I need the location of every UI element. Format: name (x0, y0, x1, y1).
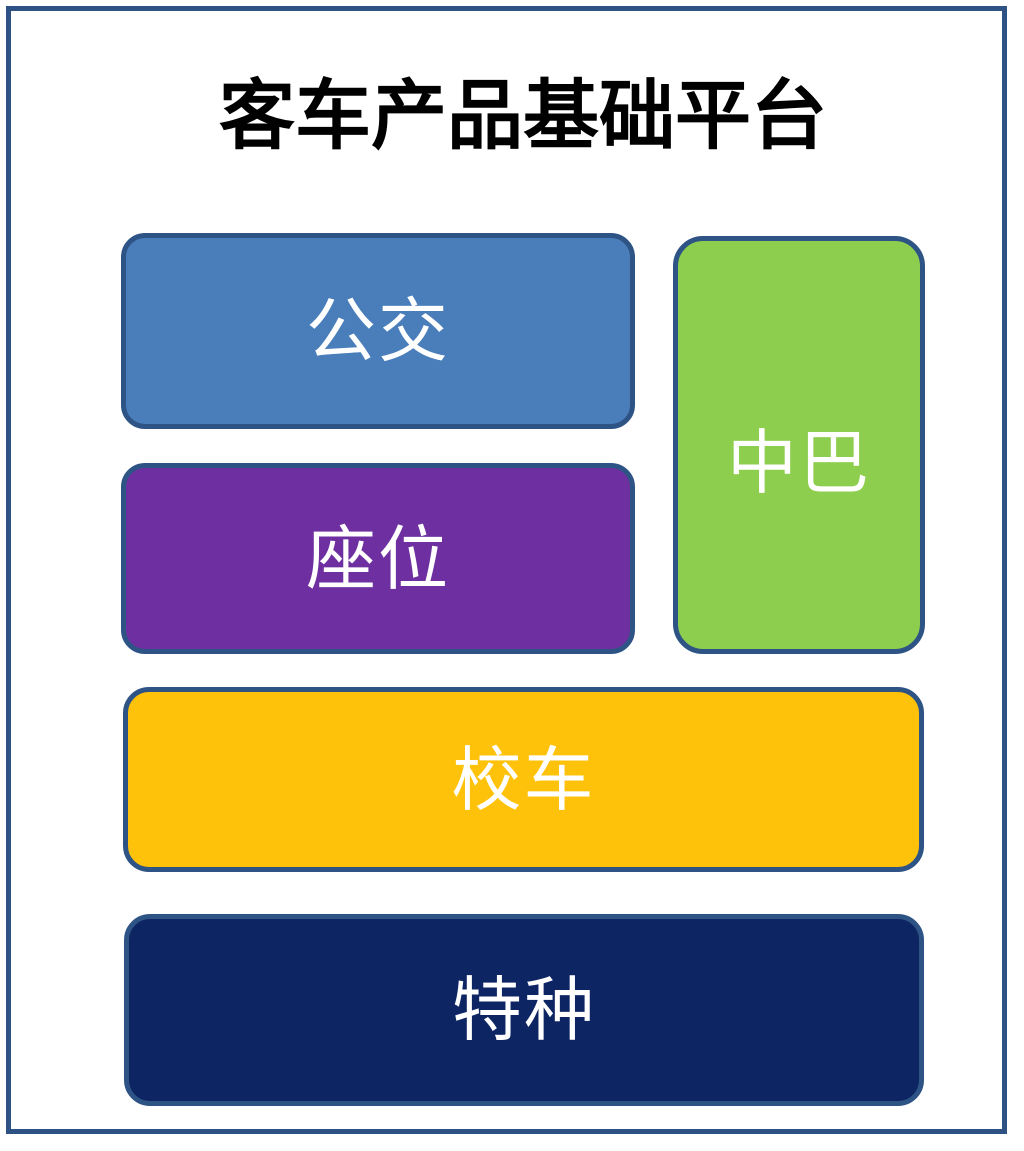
segment-box-zuowei[interactable]: 座位 (121, 463, 635, 654)
segment-box-xiaoche[interactable]: 校车 (123, 687, 924, 872)
segment-label-zuowei: 座位 (306, 524, 450, 594)
segment-box-gongjiao[interactable]: 公交 (121, 233, 635, 429)
platform-frame: 客车产品基础平台 公交 中巴 座位 校车 特种 (6, 6, 1007, 1134)
diagram-canvas: 客车产品基础平台 公交 中巴 座位 校车 特种 (0, 0, 1024, 1151)
segment-label-zhongba: 中巴 (727, 428, 871, 498)
page-title: 客车产品基础平台 (11, 71, 1024, 163)
segment-box-tezhong[interactable]: 特种 (124, 914, 924, 1106)
segment-box-zhongba[interactable]: 中巴 (673, 236, 925, 654)
segment-label-gongjiao: 公交 (306, 296, 450, 366)
segment-label-xiaoche: 校车 (452, 745, 596, 815)
segment-label-tezhong: 特种 (452, 975, 596, 1045)
